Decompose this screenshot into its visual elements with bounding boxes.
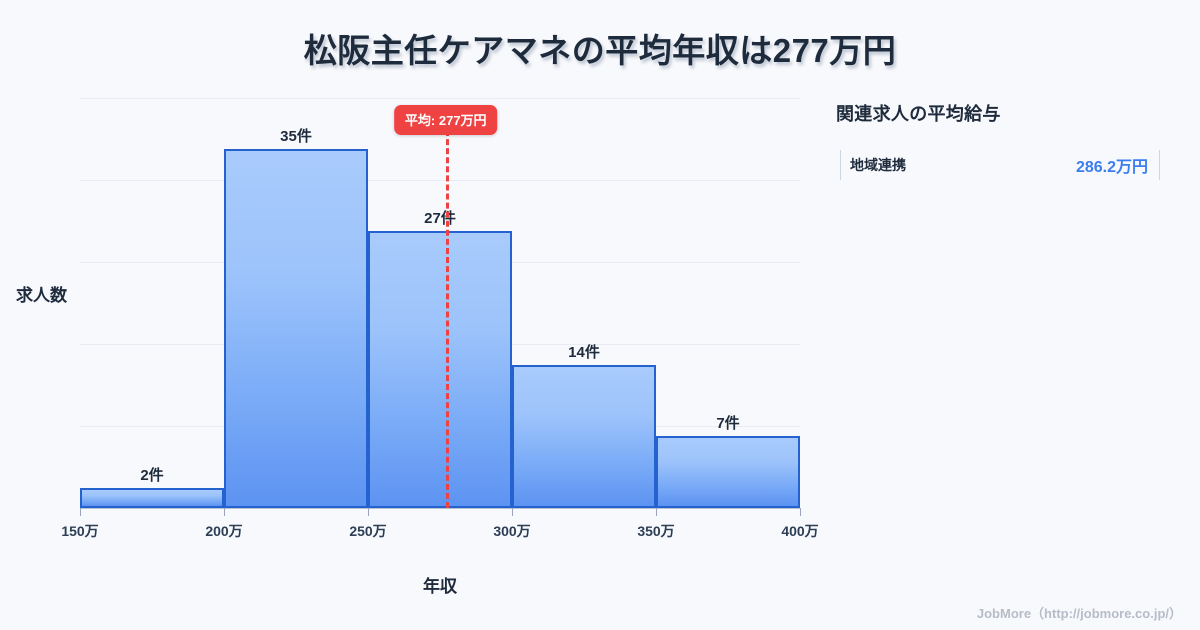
histogram-bar — [224, 149, 368, 508]
x-tick-mark — [800, 508, 801, 516]
histogram-chart: 2件35件27件14件7件 150万200万250万300万350万400万 平… — [0, 0, 830, 630]
x-axis-title: 年収 — [80, 572, 800, 597]
related-salary-list: 地域連携286.2万円 — [836, 148, 1176, 182]
bar-value-label: 27件 — [368, 207, 512, 228]
histogram-bar — [656, 436, 800, 508]
x-tick-label: 300万 — [493, 521, 530, 541]
related-salary-panel: 関連求人の平均給与 地域連携286.2万円 — [836, 100, 1176, 182]
footer-credit: JobMore（http://jobmore.co.jp/） — [977, 603, 1182, 622]
bar-value-label: 14件 — [512, 341, 656, 362]
histogram-bar — [80, 488, 224, 509]
related-salary-heading: 関連求人の平均給与 — [836, 100, 1176, 126]
x-tick-mark — [656, 508, 657, 516]
x-tick-mark — [224, 508, 225, 516]
chart-page: { "title": "松阪主任ケアマネの平均年収は277万円", "chart… — [0, 0, 1200, 630]
salary-row-value: 286.2万円 — [1076, 153, 1162, 177]
x-tick-label: 150万 — [61, 521, 98, 541]
x-tick-label: 250万 — [349, 521, 386, 541]
average-line — [446, 130, 449, 508]
histogram-bar — [368, 231, 512, 508]
histogram-bar — [512, 365, 656, 509]
y-axis-title: 求人数 — [16, 281, 67, 306]
bar-value-label: 2件 — [80, 464, 224, 485]
x-tick-mark — [80, 508, 81, 516]
x-tick-mark — [512, 508, 513, 516]
bar-value-label: 35件 — [224, 125, 368, 146]
gridline — [80, 98, 800, 99]
x-tick-label: 400万 — [781, 521, 818, 541]
salary-row-name: 地域連携 — [850, 155, 906, 175]
gridline — [80, 180, 800, 181]
bar-value-label: 7件 — [656, 412, 800, 433]
x-tick-label: 350万 — [637, 521, 674, 541]
x-tick-label: 200万 — [205, 521, 242, 541]
salary-row: 地域連携286.2万円 — [836, 148, 1176, 182]
x-tick-mark — [368, 508, 369, 516]
x-axis-baseline — [80, 508, 800, 509]
average-badge: 平均: 277万円 — [394, 105, 498, 135]
